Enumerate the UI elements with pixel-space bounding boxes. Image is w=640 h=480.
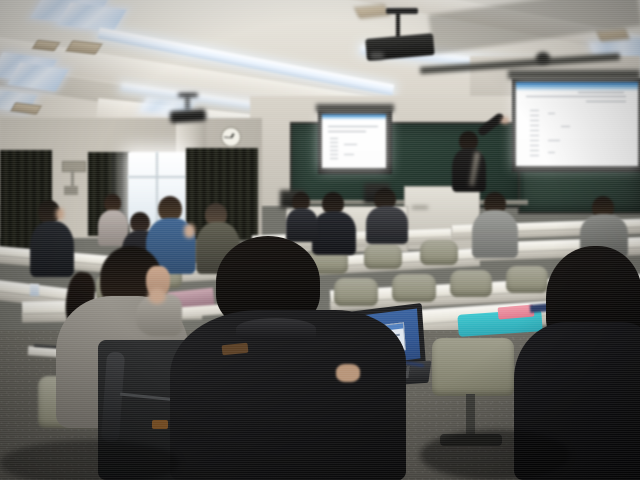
floor-shadow-1 bbox=[420, 430, 570, 480]
attendee-11-collar bbox=[236, 318, 316, 340]
screen-right-housing bbox=[508, 70, 640, 79]
attendee-8-body bbox=[472, 210, 518, 258]
clock-hand-minute bbox=[224, 136, 231, 138]
cabinet-handle bbox=[412, 206, 428, 209]
floor-shadow-2 bbox=[0, 440, 180, 480]
wall-fixture-box bbox=[64, 186, 78, 195]
attendee-10-hand bbox=[148, 288, 166, 304]
ceiling-projector-rear-arm bbox=[186, 96, 189, 110]
ceiling-projector-rear-plate bbox=[178, 93, 198, 97]
attendee-7-body bbox=[366, 206, 408, 244]
projection-screen-left bbox=[322, 114, 386, 168]
ceiling-projector-front-plate bbox=[386, 8, 418, 14]
classroom-photo: 11:50 bbox=[0, 0, 640, 480]
chair-8 bbox=[506, 266, 548, 293]
chair-3 bbox=[364, 244, 402, 269]
ceiling-projector-front-arm bbox=[396, 12, 400, 38]
chair-center-foreground bbox=[432, 338, 514, 396]
paper-cup bbox=[30, 284, 39, 296]
chair-4 bbox=[420, 240, 458, 265]
attendee-front-body bbox=[286, 208, 318, 242]
ceiling-camera bbox=[536, 52, 550, 64]
chair-7 bbox=[450, 270, 492, 297]
attendee-6-body bbox=[312, 211, 356, 255]
attendee-1-body bbox=[30, 221, 74, 277]
attendee-11-hand bbox=[336, 364, 360, 382]
attendee-4-hand bbox=[184, 224, 195, 238]
screen-left-housing bbox=[316, 104, 394, 112]
presenter-hand bbox=[501, 117, 509, 124]
attendee-1-face bbox=[56, 208, 64, 220]
ceiling-projector-front-lens bbox=[370, 52, 384, 59]
projection-screen-right bbox=[516, 82, 638, 166]
chair-5 bbox=[334, 278, 378, 306]
wall-clock bbox=[221, 127, 241, 147]
ceiling-projector-rear bbox=[170, 109, 207, 123]
backpack-buckle bbox=[152, 420, 168, 429]
chair-6 bbox=[392, 274, 436, 302]
wall-fixture bbox=[62, 161, 86, 172]
